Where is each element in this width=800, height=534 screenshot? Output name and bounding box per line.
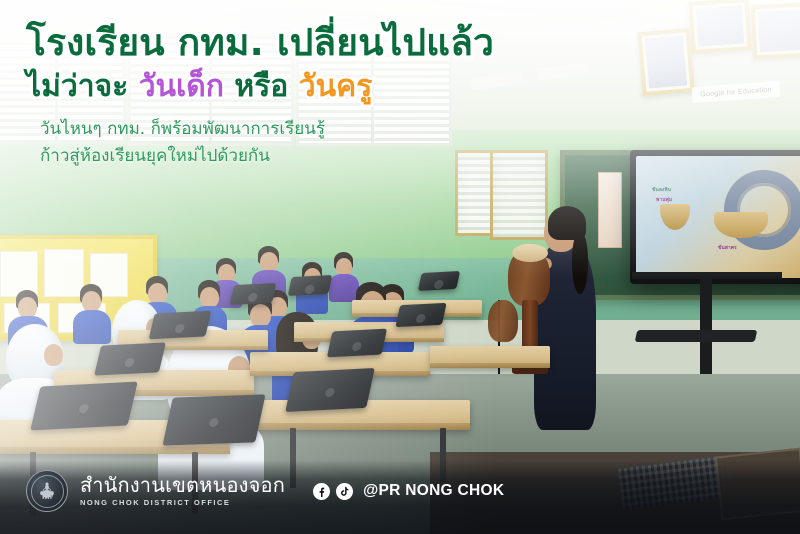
thai-drum-head [512,244,548,262]
student-head [18,297,37,318]
footer-bar: สำนักงานเขตหนองจอก NONG CHOK DISTRICT OF… [26,470,780,512]
subtitle-line-2: ก้าวสู่ห้องเรียนยุคใหม่ไปด้วยกัน [40,144,680,170]
wall-poster-strip [598,172,622,248]
display-screen: ขันลงหิน พานพุ่ม ขันสาคร [636,156,800,278]
student-laptop [418,271,460,291]
poster-root: Google for Education ขันลงหิน พานพุ่ม ขั… [0,0,800,534]
student-uniform [329,274,359,302]
erawan-figure-icon [38,481,57,502]
student-laptop [288,275,333,296]
student-uniform [73,310,111,344]
headline-line-2: ไม่ว่าจะ วันเด็ก หรือ วันครู [26,69,680,104]
headline-block: โรงเรียน กทม. เปลี่ยนไปแล้ว ไม่ว่าจะ วัน… [26,22,680,170]
student-head [44,344,63,366]
framed-portrait [751,3,800,60]
student-head [200,287,219,308]
student-laptop [327,329,387,358]
student-laptop [94,342,166,375]
headline-word-4: วันครู [299,69,373,104]
student-head [148,283,167,304]
org-name-en: NONG CHOK DISTRICT OFFICE [80,499,285,507]
student-laptop [162,394,265,445]
tiktok-icon[interactable] [336,483,353,500]
student-head [260,252,278,272]
org-name-th: สำนักงานเขตหนองจอก [80,475,285,496]
google-sign-label: Google for Education [700,86,772,98]
desk-edge [250,423,470,430]
social-links[interactable]: @PR NONG CHOK [313,482,504,500]
student-laptop [230,283,277,305]
thai-drum-secondary [488,300,518,342]
slide-ring-artifact [724,170,800,250]
board-paper [0,251,38,297]
slide-cup-artifact [660,204,690,230]
headline-word-2: วันเด็ก [139,69,224,104]
facebook-icon[interactable] [313,483,330,500]
board-paper [44,249,84,297]
slide-label-bottom: ขันสาคร [718,244,737,252]
desk-edge [430,363,550,368]
display-stand-shelf [635,330,758,342]
slide-label-left: ขันลงหิน [652,186,671,194]
framed-portrait [688,0,751,54]
subtitle-line-1: วันไหนๆ กทม. ก็พร้อมพัฒนาการเรียนรู้ [40,117,680,143]
social-handle[interactable]: @PR NONG CHOK [363,482,504,500]
teacher-ponytail [572,232,588,294]
headline-line-1: โรงเรียน กทม. เปลี่ยนไปแล้ว [26,22,680,63]
student-head [250,304,271,327]
student-laptop [285,368,375,412]
student-laptop [395,303,446,327]
student-laptop [149,311,212,340]
brand-block: สำนักงานเขตหนองจอก NONG CHOK DISTRICT OF… [80,475,285,507]
student-laptop [30,382,138,431]
slide-label-top: พานพุ่ม [656,196,672,204]
display-stand-crossbar [632,272,782,279]
teacher-desk [430,346,550,368]
student-head [82,291,101,312]
bma-erawan-seal-icon [26,470,68,512]
headline-word-1: ไม่ว่าจะ [26,69,128,104]
headline-word-3: หรือ [234,69,288,104]
